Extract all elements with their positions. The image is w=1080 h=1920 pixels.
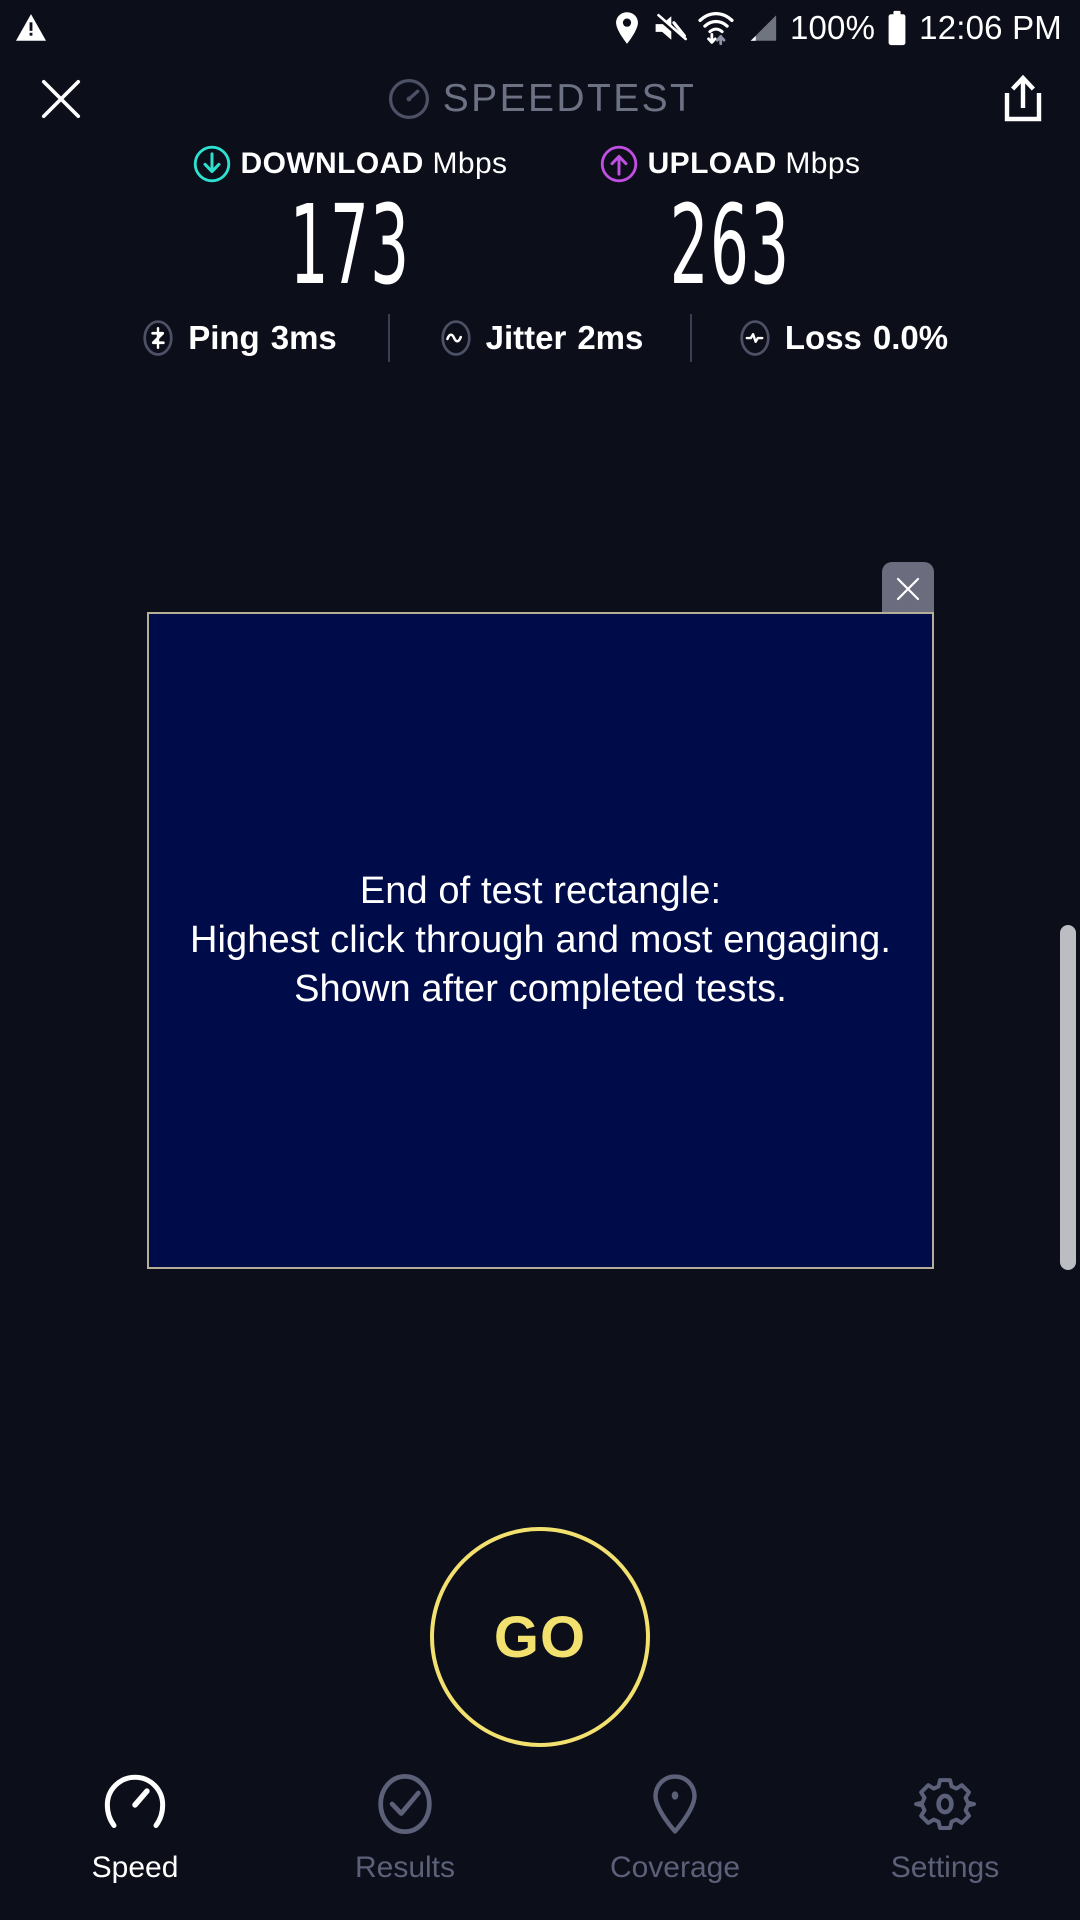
battery-full-icon	[886, 10, 908, 46]
upload-arrow-icon	[600, 145, 638, 183]
jitter-icon	[437, 319, 475, 357]
close-icon	[38, 76, 84, 122]
stat-jitter-label: Jitter	[486, 319, 567, 357]
upload-label: UPLOAD Mbps	[648, 147, 861, 181]
brand-title: SPEEDTEST	[443, 77, 697, 121]
upload-label-row: UPLOAD Mbps	[540, 142, 920, 186]
download-label-row: DOWNLOAD Mbps	[160, 142, 540, 186]
speedometer-icon	[104, 1773, 166, 1835]
ad-line-2: Highest click through and most engaging.	[190, 916, 891, 965]
check-circle-icon	[374, 1773, 436, 1835]
download-label: DOWNLOAD Mbps	[241, 147, 508, 181]
nav-label-results: Results	[355, 1851, 455, 1885]
stat-ping-value: 3ms	[271, 319, 337, 357]
clock-label: 12:06 PM	[919, 9, 1062, 47]
ad-close-button[interactable]	[882, 562, 934, 616]
warning-triangle-icon	[14, 11, 48, 45]
nav-item-settings[interactable]: Settings	[810, 1773, 1080, 1885]
download-metric: DOWNLOAD Mbps 173	[160, 142, 540, 304]
status-bar: 100% 12:06 PM	[0, 0, 1080, 56]
nav-item-results[interactable]: Results	[270, 1773, 540, 1885]
stat-jitter: Jitter 2ms	[390, 319, 690, 357]
upload-metric: UPLOAD Mbps 263	[540, 142, 920, 304]
ad-line-1: End of test rectangle:	[190, 867, 891, 916]
close-button[interactable]	[30, 68, 92, 130]
stat-loss-value: 0.0%	[873, 319, 948, 357]
advertisement-banner[interactable]: End of test rectangle: Highest click thr…	[147, 612, 934, 1269]
download-upload-row: DOWNLOAD Mbps 173 UPLOAD Mbps 263	[0, 142, 1080, 304]
loss-icon	[736, 319, 774, 357]
app-header: SPEEDTEST	[0, 56, 1080, 142]
nav-label-speed: Speed	[92, 1851, 179, 1885]
download-arrow-icon	[193, 145, 231, 183]
stat-ping: Ping 3ms	[88, 319, 388, 357]
location-pin-icon	[612, 11, 642, 45]
status-bar-right: 100% 12:06 PM	[612, 9, 1062, 47]
nav-label-coverage: Coverage	[610, 1851, 740, 1885]
ping-icon	[139, 319, 177, 357]
cellular-signal-icon	[745, 12, 779, 44]
nav-item-coverage[interactable]: Coverage	[540, 1773, 810, 1885]
download-value: 173	[232, 188, 468, 304]
close-icon	[893, 574, 923, 604]
ad-line-3: Shown after completed tests.	[190, 965, 891, 1014]
stat-loss: Loss 0.0%	[692, 319, 992, 357]
gear-icon	[914, 1773, 976, 1835]
brand: SPEEDTEST	[92, 77, 992, 121]
stats-row: Ping 3ms Jitter 2ms Loss 0.0%	[0, 314, 1080, 362]
share-icon	[1001, 75, 1045, 123]
upload-value: 263	[612, 188, 848, 304]
bottom-navigation: Speed Results Coverage Settings	[0, 1755, 1080, 1920]
go-button-label: GO	[494, 1604, 586, 1671]
scrollbar-thumb[interactable]	[1060, 925, 1076, 1270]
share-button[interactable]	[992, 68, 1054, 130]
nav-item-speed[interactable]: Speed	[0, 1773, 270, 1885]
results-panel: DOWNLOAD Mbps 173 UPLOAD Mbps 263	[0, 142, 1080, 362]
battery-percent-label: 100%	[790, 9, 875, 47]
status-bar-left	[14, 11, 48, 45]
stat-jitter-value: 2ms	[577, 319, 643, 357]
location-pin-icon	[644, 1773, 706, 1835]
nav-label-settings: Settings	[891, 1851, 999, 1885]
ad-text: End of test rectangle: Highest click thr…	[190, 867, 891, 1014]
go-button[interactable]: GO	[430, 1527, 650, 1747]
wifi-icon	[698, 10, 734, 46]
stat-loss-label: Loss	[785, 319, 862, 357]
speedtest-gauge-icon	[388, 78, 430, 120]
volume-mute-icon	[653, 12, 687, 44]
stat-ping-label: Ping	[188, 319, 260, 357]
